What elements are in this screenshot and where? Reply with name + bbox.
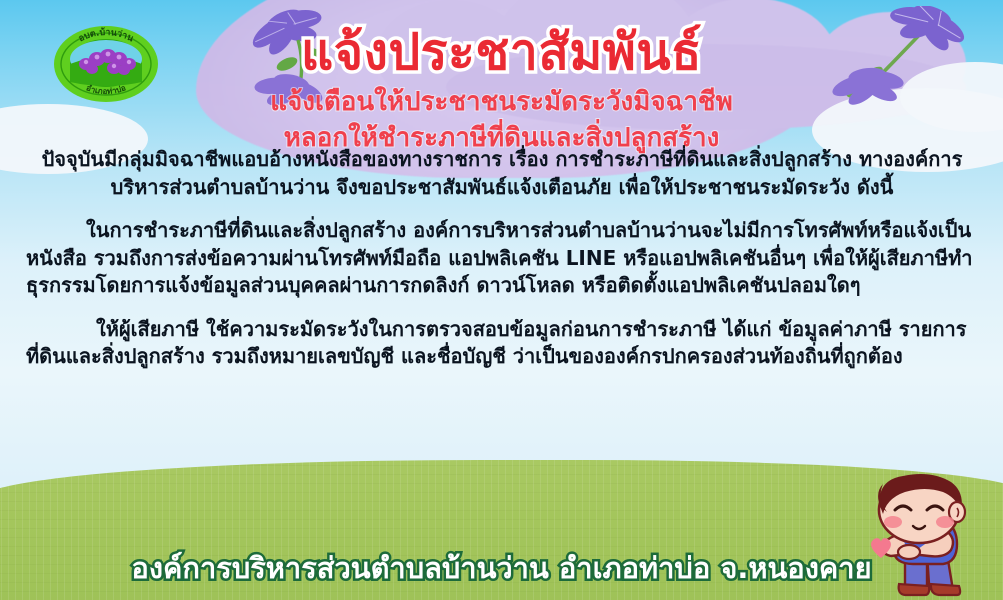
paragraph-3: ให้ผู้เสียภาษี ใช้ความระมัดระวังในการตรว… — [26, 316, 978, 371]
footer-organization: องค์การบริหารส่วนตำบลบ้านว่าน อำเภอท่าบ่… — [0, 550, 1003, 586]
purple-flower-icon — [240, 6, 370, 116]
announcement-poster: อบต.บ้านว่าน อำเภอท่าบ่อ — [0, 0, 1003, 600]
village-seal-logo: อบต.บ้านว่าน อำเภอท่าบ่อ — [52, 24, 160, 104]
purple-flower-icon — [828, 6, 978, 126]
paragraph-2: ในการชำระภาษีที่ดินและสิ่งปลูกสร้าง องค์… — [26, 217, 978, 300]
body-copy: ปัจจุบันมีกลุ่มมิจฉาชีพแอบอ้างหนังสือของ… — [26, 146, 978, 387]
paragraph-1: ปัจจุบันมีกลุ่มมิจฉาชีพแอบอ้างหนังสือของ… — [26, 146, 978, 201]
